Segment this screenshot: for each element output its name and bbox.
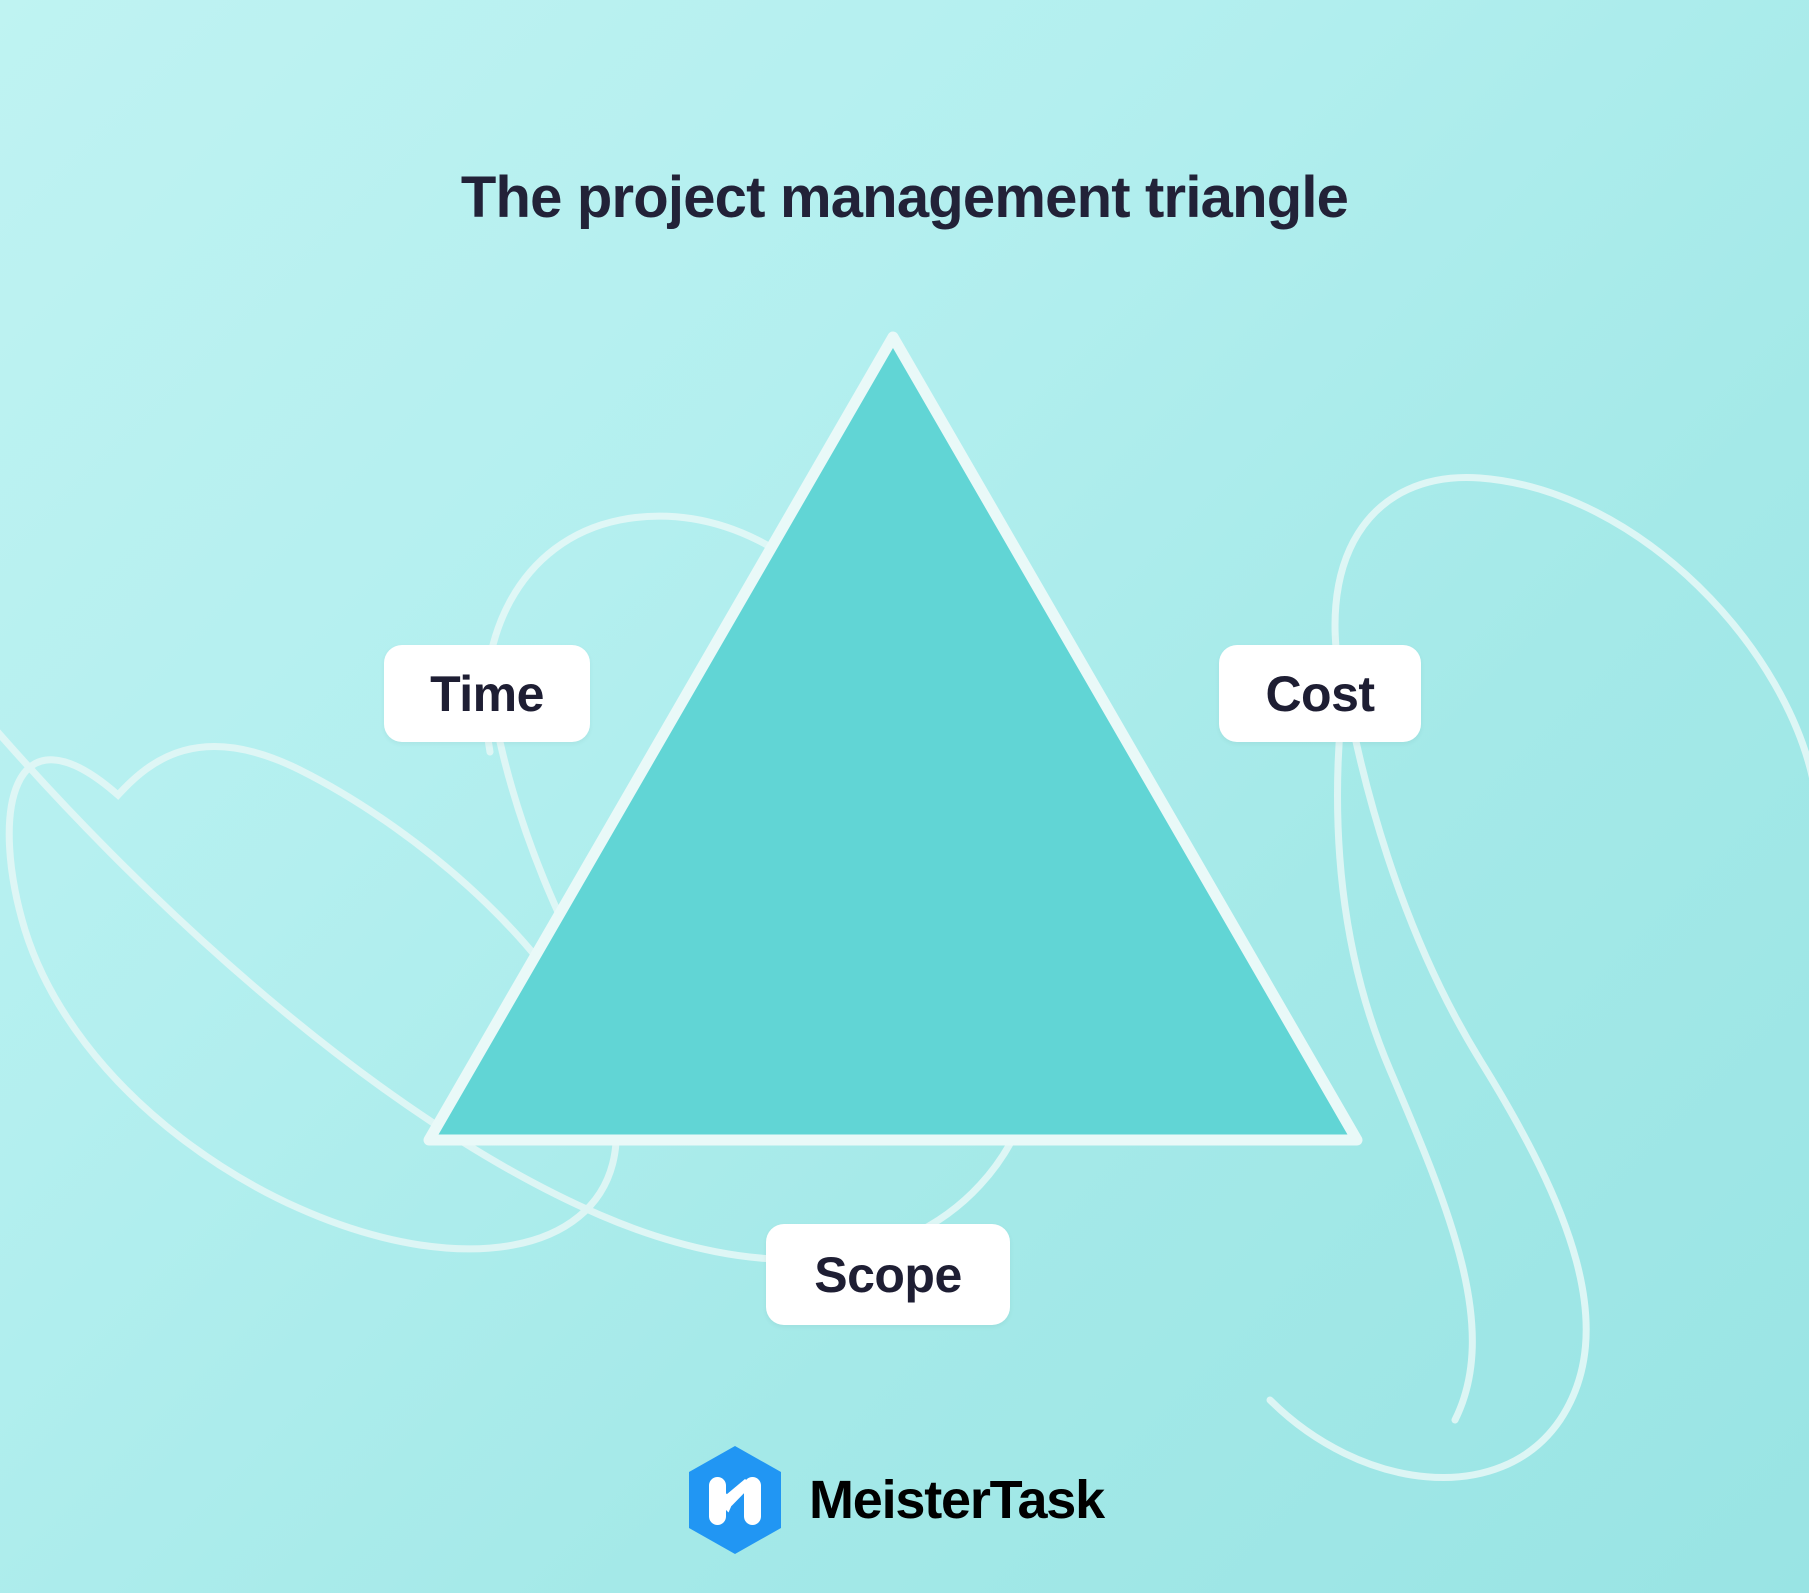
label-time[interactable]: Time [384, 645, 590, 742]
label-time-text: Time [430, 665, 544, 723]
meistertask-wordmark: MeisterTask [809, 1473, 1104, 1527]
infographic-canvas: The project management triangle Time Cos… [0, 0, 1809, 1593]
decorative-swirl-lines [0, 0, 1809, 1593]
label-scope-text: Scope [814, 1246, 962, 1304]
label-cost-text: Cost [1265, 665, 1374, 723]
meistertask-logo[interactable]: MeisterTask [683, 1444, 1104, 1556]
label-cost[interactable]: Cost [1219, 645, 1421, 742]
project-management-triangle [0, 0, 1809, 1593]
label-scope[interactable]: Scope [766, 1224, 1010, 1325]
page-title: The project management triangle [0, 163, 1809, 233]
meistertask-hexagon-m-icon [683, 1444, 787, 1556]
